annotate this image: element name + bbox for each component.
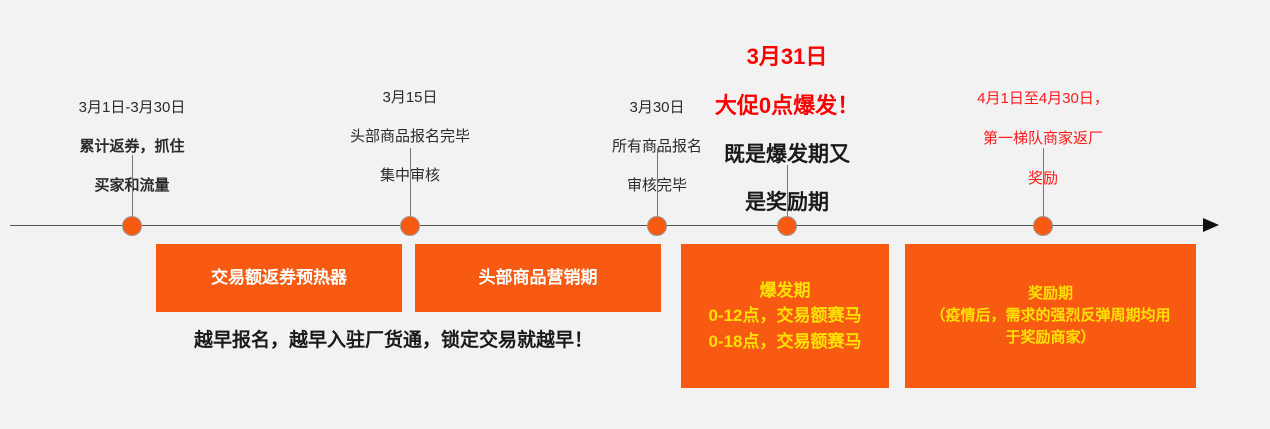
milestone-text-2-line1: 头部商品报名完毕 bbox=[320, 127, 500, 147]
milestone-dot-3[interactable] bbox=[647, 216, 667, 236]
milestone-text-1-line1: 累计返券，抓住 bbox=[42, 137, 222, 157]
phase-box-burst-title: 爆发期 bbox=[760, 278, 811, 304]
milestone-stem-5 bbox=[1043, 148, 1044, 216]
milestone-text-4-red-line2: 大促0点爆发！ bbox=[677, 92, 897, 120]
phase-box-marketing[interactable]: 头部商品营销期 bbox=[415, 244, 661, 312]
milestone-dot-2[interactable] bbox=[400, 216, 420, 236]
milestone-dot-5[interactable] bbox=[1033, 216, 1053, 236]
phase-box-reward-line2: 于奖励商家） bbox=[1005, 327, 1095, 349]
milestone-date-5: 4月1日至4月30日， bbox=[943, 89, 1143, 109]
milestone-stem-3 bbox=[657, 148, 658, 216]
milestone-stem-1 bbox=[132, 155, 133, 216]
milestone-dot-4[interactable] bbox=[777, 216, 797, 236]
milestone-date-1: 3月1日-3月30日 bbox=[42, 98, 222, 118]
milestone-stem-2 bbox=[410, 148, 411, 216]
milestone-date-4: 3月31日 bbox=[677, 43, 897, 71]
phase-box-reward[interactable]: 奖励期 （疫情后，需求的强烈反弹周期均用 于奖励商家） bbox=[905, 244, 1196, 388]
phase-box-preheat[interactable]: 交易额返券预热器 bbox=[156, 244, 402, 312]
milestone-text-4-black-line1: 既是爆发期又 bbox=[677, 141, 897, 168]
timeline-diagram: 3月1日-3月30日 累计返券，抓住 买家和流量 3月15日 头部商品报名完毕 … bbox=[0, 0, 1270, 429]
phase-box-marketing-label: 头部商品营销期 bbox=[479, 267, 598, 290]
bottom-caption: 越早报名，越早入驻厂货通，锁定交易就越早！ bbox=[194, 325, 593, 352]
phase-box-burst-line1: 0-12点，交易额赛马 bbox=[708, 303, 861, 329]
milestone-stem-4 bbox=[787, 165, 788, 216]
milestone-text-5-line1: 第一梯队商家返厂 bbox=[943, 129, 1143, 149]
milestone-date-2: 3月15日 bbox=[320, 88, 500, 108]
phase-box-reward-line1: （疫情后，需求的强烈反弹周期均用 bbox=[930, 305, 1170, 327]
phase-box-reward-title: 奖励期 bbox=[1028, 283, 1073, 305]
phase-box-burst[interactable]: 爆发期 0-12点，交易额赛马 0-18点，交易额赛马 bbox=[681, 244, 889, 388]
phase-box-burst-line2: 0-18点，交易额赛马 bbox=[708, 329, 861, 355]
milestone-dot-1[interactable] bbox=[122, 216, 142, 236]
timeline-axis-arrow-icon bbox=[1203, 218, 1219, 232]
phase-box-preheat-label: 交易额返券预热器 bbox=[211, 267, 347, 290]
timeline-axis-line bbox=[10, 225, 1210, 226]
